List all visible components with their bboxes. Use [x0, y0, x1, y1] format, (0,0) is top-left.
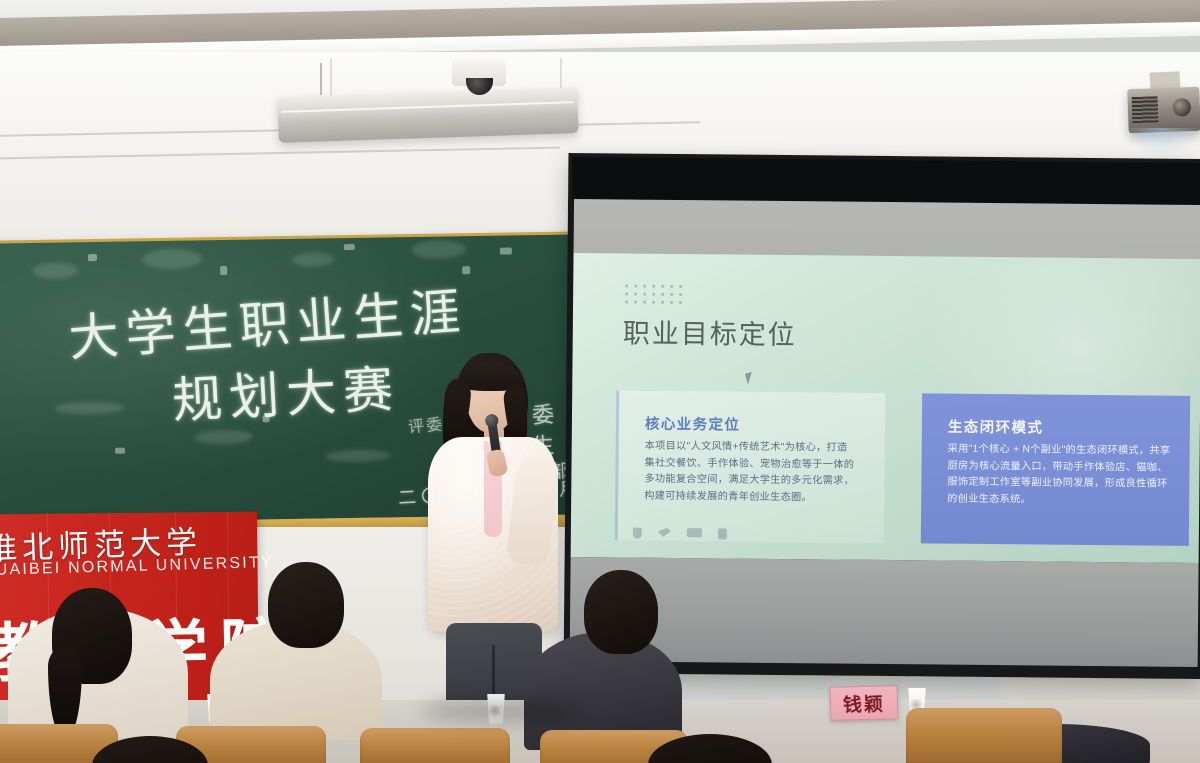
- pen-icon[interactable]: [633, 528, 642, 539]
- mouse-cursor-icon: [745, 372, 755, 384]
- presenter-toolbar[interactable]: [633, 528, 727, 540]
- blackboard-title-line2: 规划大赛: [170, 349, 401, 433]
- audience-head-2: [268, 562, 344, 648]
- screen-header-band: [572, 157, 1200, 205]
- presentation-slide[interactable]: 职业目标定位 核心业务定位 本项目以"人文风情+传统艺术"为核心，打造集社交餐饮…: [571, 253, 1200, 563]
- audience-head-3: [584, 570, 658, 654]
- panel-heading-ecosystem-loop: 生态闭环模式: [948, 416, 1044, 438]
- ceiling-projector: [1127, 87, 1200, 133]
- dome-camera-icon: [452, 60, 506, 86]
- display-icon[interactable]: [718, 528, 727, 539]
- judge-namecard: 钱颖: [830, 685, 899, 721]
- panel-body-ecosystem-loop: 采用"1个核心 + N个副业"的生态闭环模式，共享厨房为核心流量入口，带动手作体…: [947, 442, 1176, 510]
- panel-body-core-business: 本项目以"人文风情+传统艺术"为核心，打造集社交餐饮、手作体验、宠物治愈等于一体…: [644, 439, 857, 507]
- light-hanger: [320, 63, 322, 95]
- presenter-shadow: [420, 700, 580, 722]
- screen-blank-top: [574, 199, 1200, 261]
- slide-panel-core-business: 核心业务定位 本项目以"人文风情+传统艺术"为核心，打造集社交餐饮、手作体验、宠…: [615, 390, 885, 543]
- chair-back: [906, 708, 1062, 763]
- video-icon[interactable]: [687, 528, 702, 537]
- slide-title: 职业目标定位: [623, 311, 797, 352]
- dot-grid-decoration-icon: [625, 284, 688, 309]
- screen-blank-bottom: [570, 557, 1199, 667]
- classroom-scene: 大学生职业生涯 规划大赛 评委 团委 学生会 服务部 二〇二五年十一月二日 淮北…: [0, 0, 1200, 763]
- judge-name-label: 钱颖: [843, 689, 886, 717]
- slide-panel-ecosystem-loop: 生态闭环模式 采用"1个核心 + N个副业"的生态闭环模式，共享厨房为核心流量入…: [921, 393, 1190, 546]
- projection-screen[interactable]: 职业目标定位 核心业务定位 本项目以"人文风情+传统艺术"为核心，打造集社交餐饮…: [564, 153, 1200, 679]
- projector-vent: [1132, 96, 1159, 123]
- projector-lens-icon: [1173, 98, 1192, 117]
- chair-back: [360, 728, 510, 763]
- panel-heading-core-business: 核心业务定位: [645, 413, 741, 435]
- laser-pointer-icon[interactable]: [658, 528, 671, 537]
- projector-glow: [1122, 128, 1200, 158]
